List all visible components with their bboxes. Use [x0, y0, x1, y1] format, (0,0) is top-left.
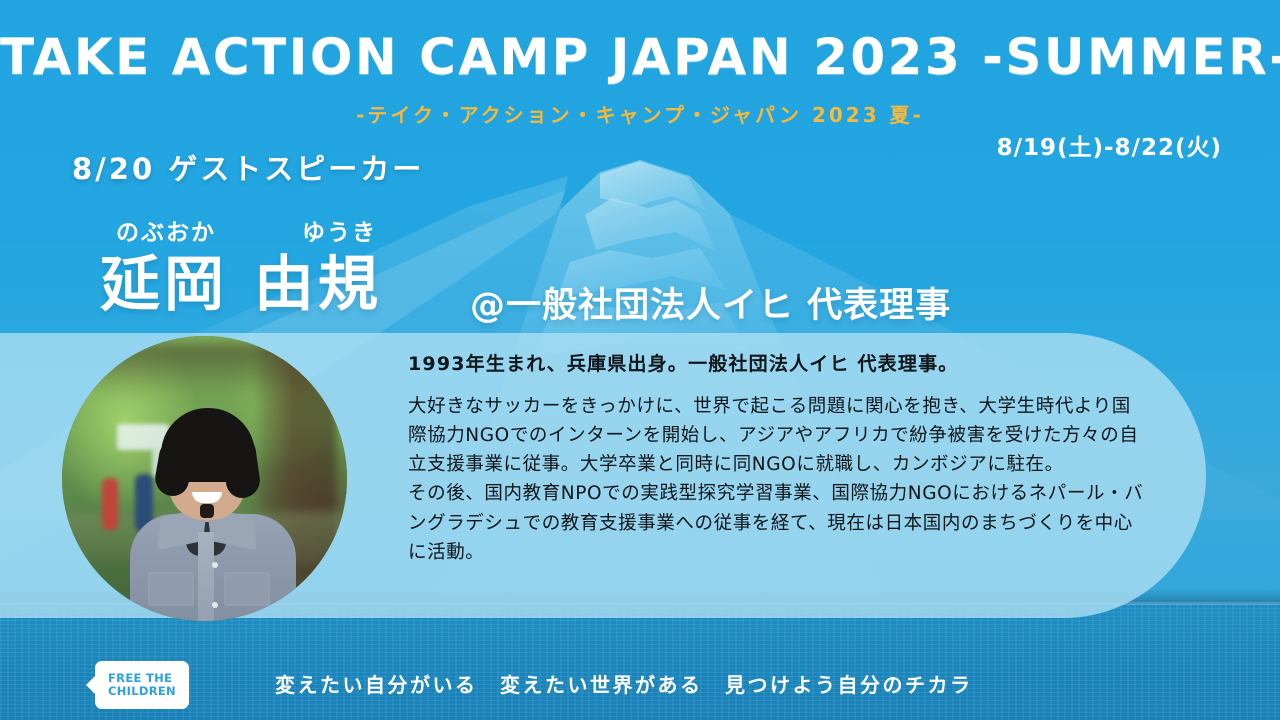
speaker-name: 延岡由規: [100, 254, 460, 317]
portrait-button-1: [212, 562, 218, 568]
furigana-row: のぶおか ゆうき: [100, 222, 460, 252]
guest-speaker-label: 8/20 ゲストスピーカー: [72, 146, 424, 188]
bio-paragraph: その後、国内教育NPOでの実践型探究学習事業、国際協力NGOにおけるネパール・バ…: [408, 479, 1148, 567]
bio-text-block: 1993年生まれ、兵庫県出身。一般社団法人イヒ 代表理事。 大好きなサッカーをき…: [408, 352, 1148, 567]
page-subtitle: -テイク・アクション・キャンプ・ジャパン 2023 夏-: [0, 99, 1280, 128]
portrait-pocket-left: [148, 572, 194, 606]
speaker-name-given: 由規: [254, 250, 382, 320]
speaker-affiliation: @一般社団法人イヒ 代表理事: [470, 277, 951, 328]
bio-paragraph: 大好きなサッカーをきっかけに、世界で起こる問題に関心を抱き、大学生時代より国際協…: [408, 392, 1148, 480]
portrait-goatee: [200, 504, 214, 518]
bio-lead-line: 1993年生まれ、兵庫県出身。一般社団法人イヒ 代表理事。: [408, 352, 1148, 378]
logo-line-2: CHILDREN: [108, 685, 176, 698]
speaker-portrait-photo: [62, 336, 347, 621]
furigana-family: のぶおか: [116, 222, 216, 245]
lake-water: [0, 604, 1280, 720]
free-the-children-logo[interactable]: FREE THE CHILDREN: [95, 661, 189, 709]
footer-tagline: 変えたい自分がいる 変えたい世界がある 見つけよう自分のチカラ: [275, 669, 973, 698]
furigana-given: ゆうき: [302, 222, 377, 245]
poster-canvas: TAKE ACTION CAMP JAPAN 2023 -SUMMER- -テイ…: [0, 0, 1280, 720]
portrait-shirt-placket: [198, 532, 214, 621]
speaker-name-family: 延岡: [100, 250, 228, 320]
portrait-button-2: [212, 602, 218, 608]
event-dates: 8/19(土)-8/22(火): [997, 128, 1222, 162]
speaker-name-block: のぶおか ゆうき 延岡由規: [100, 222, 460, 317]
logo-text: FREE THE CHILDREN: [108, 672, 176, 698]
bio-body: 大好きなサッカーをきっかけに、世界で起こる問題に関心を抱き、大学生時代より国際協…: [408, 392, 1148, 567]
portrait-background-person-red: [102, 478, 118, 530]
page-title: TAKE ACTION CAMP JAPAN 2023 -SUMMER-: [0, 32, 1280, 82]
portrait-pocket-right: [224, 572, 270, 606]
